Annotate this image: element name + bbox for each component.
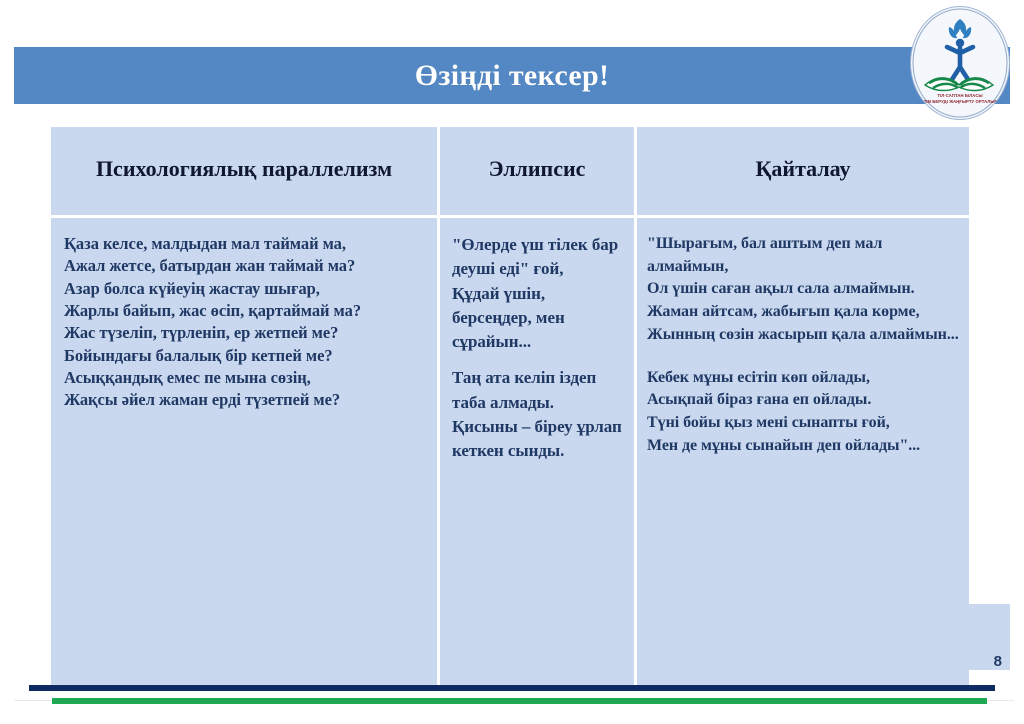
table-body-row: Қаза келсе, малдыдан мал таймай ма, Ажал…: [51, 218, 969, 690]
emblem-logo: ТІЛ-САПТАН БІЛАСЫ БІЛІМ БЕРУДІ ЖАҢҒЫРТУ …: [910, 6, 1010, 120]
cell-text-column3-part1: "Шырағым, бал аштым деп мал алмаймын, Ол…: [638, 219, 968, 357]
column-header-ellipsis: Эллипсис: [440, 127, 634, 215]
logo-caption-line-2: БІЛІМ БЕРУДІ ЖАҢҒЫРТУ ОРТАЛЫҒЫ: [911, 99, 1009, 105]
column-header-repetition: Қайталау: [637, 127, 969, 215]
table-cell-ellipsis: "Өлерде үш тілек бар деуші еді" ғой, Құд…: [440, 218, 634, 690]
logo-caption: ТІЛ-САПТАН БІЛАСЫ БІЛІМ БЕРУДІ ЖАҢҒЫРТУ …: [911, 93, 1009, 105]
table-cell-repetition: "Шырағым, бал аштым деп мал алмаймын, Ол…: [637, 218, 969, 690]
column-header-psychological-parallelism: Психологиялық параллелизм: [51, 127, 437, 215]
table-header-row: Психологиялық параллелизм Эллипсис Қайта…: [51, 127, 969, 215]
footer-rule-navy: [29, 685, 885, 691]
page-number: 8: [950, 604, 1008, 680]
cell-text-column1: Қаза келсе, малдыдан мал таймай ма, Ажал…: [52, 219, 436, 422]
table-cell-psychological-parallelism: Қаза келсе, малдыдан мал таймай ма, Ажал…: [51, 218, 437, 690]
slide-canvas: Өзіңді тексер! ТІЛ-САПТАН БІЛАСЫ БІЛІМ Б…: [0, 0, 1024, 724]
content-table: Психологиялық параллелизм Эллипсис Қайта…: [48, 124, 972, 693]
footer-rule-green: [52, 698, 987, 704]
page-title: Өзіңді тексер!: [0, 47, 1024, 104]
cell-text-column2-part2: Таң ата келіп іздеп таба алмады. Қисыны …: [441, 364, 633, 473]
cell-text-column2-part1: "Өлерде үш тілек бар деуші еді" ғой, Құд…: [441, 219, 633, 364]
cell-text-column3-part2: Кебек мұны есітіп көп ойлады, Асықпай бі…: [638, 357, 968, 468]
